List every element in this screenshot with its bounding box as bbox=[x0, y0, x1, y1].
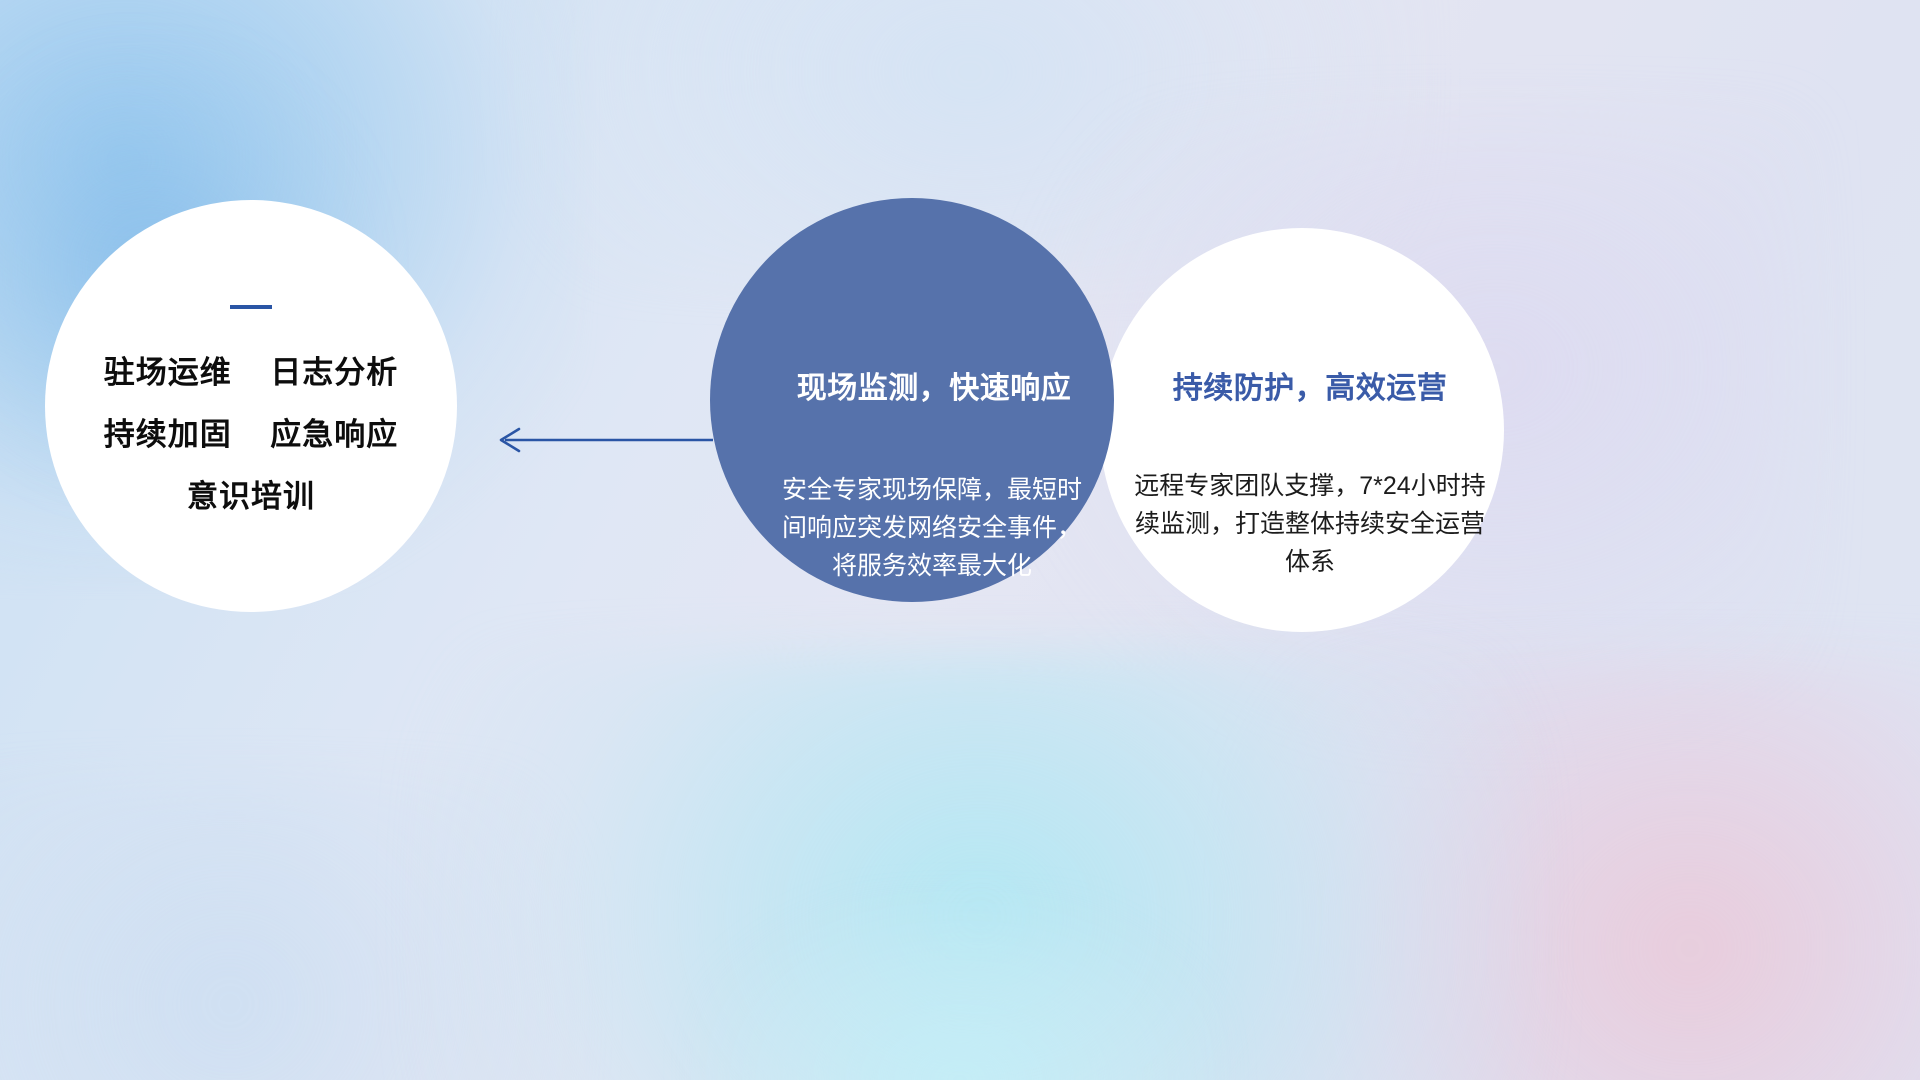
flow-arrow-left-icon bbox=[495, 420, 715, 460]
right-circle-body: 远程专家团队支撑，7*24小时持续监测，打造整体持续安全运营体系 bbox=[1130, 467, 1490, 581]
left-circle-content: 驻场运维 日志分析 持续加固 应急响应 意识培训 bbox=[45, 200, 457, 612]
slide-canvas: 驻场运维 日志分析 持续加固 应急响应 意识培训 现场监测，快速响应 安全专家现… bbox=[0, 0, 1920, 1080]
right-circle-content: 持续防护，高效运营 远程专家团队支撑，7*24小时持续监测，打造整体持续安全运营… bbox=[1100, 228, 1504, 632]
middle-circle-title: 现场监测，快速响应 bbox=[797, 363, 1072, 407]
left-circle-divider bbox=[230, 305, 272, 309]
right-circle-title: 持续防护，高效运营 bbox=[1173, 363, 1448, 407]
middle-circle-body: 安全专家现场保障，最短时间响应突发网络安全事件，将服务效率最大化 bbox=[772, 471, 1092, 585]
left-circle-line-1: 驻场运维 日志分析 bbox=[104, 357, 398, 388]
middle-circle-content: 现场监测，快速响应 安全专家现场保障，最短时间响应突发网络安全事件，将服务效率最… bbox=[710, 198, 1114, 602]
background-glow-cyan-core bbox=[700, 900, 1220, 1080]
left-circle-line-3: 意识培训 bbox=[187, 481, 315, 512]
left-circle-line-2: 持续加固 应急响应 bbox=[104, 419, 398, 450]
